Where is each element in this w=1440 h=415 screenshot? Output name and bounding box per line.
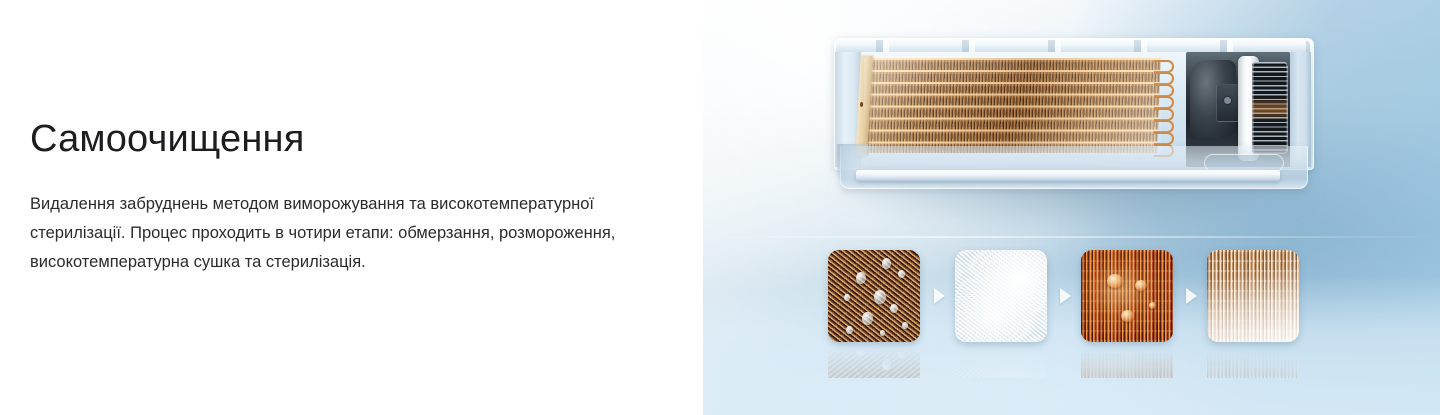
stage-tile [828, 250, 920, 342]
heat-exchanger-coil [864, 58, 1160, 153]
water-droplet [874, 290, 886, 304]
stage-tile [1207, 250, 1299, 342]
stage-high-temperature-defrost [1081, 250, 1173, 342]
water-droplet [882, 258, 891, 269]
melting-droplet [1149, 302, 1156, 309]
water-droplet [856, 344, 866, 356]
water-droplet [890, 304, 898, 313]
air-conditioner-unit [834, 38, 1312, 190]
melting-droplet [1107, 274, 1123, 288]
page-title: Самоочищення [30, 118, 630, 162]
text-panel: Самоочищення Видалення забруднень методо… [0, 0, 703, 415]
water-droplet [846, 326, 853, 334]
frost-grain [955, 344, 1047, 378]
stage-tile-reflection [1081, 344, 1173, 378]
stage-tile [1081, 250, 1173, 342]
stage-soiled-wet-fins [828, 250, 920, 342]
heat-glow [1081, 344, 1173, 378]
stage-tile-reflection [1207, 344, 1299, 378]
stage-tile-reflection [955, 344, 1047, 378]
stage-dry-sterilized-fins [1207, 250, 1299, 342]
product-illustration-panel [703, 0, 1440, 415]
stage-frost-ice-buildup [955, 250, 1047, 342]
background-floor-line [703, 236, 1440, 238]
coil-sheen [864, 58, 1160, 153]
water-droplet [882, 359, 891, 370]
water-droplet [898, 270, 905, 278]
coil-end-plate-hole [860, 102, 863, 107]
melting-droplet [1135, 280, 1147, 291]
water-droplet [880, 330, 885, 336]
stage-arrow-1 [934, 288, 945, 304]
melting-droplet [1121, 310, 1134, 322]
front-louver-blade [856, 170, 1280, 181]
stage-arrow-3 [1186, 288, 1197, 304]
stage-tile-reflection [828, 344, 920, 378]
self-clean-process-stages [703, 250, 1440, 360]
section-description: Видалення забруднень методом виморожуван… [30, 190, 622, 278]
water-droplet [856, 272, 866, 284]
frost-grain [955, 250, 1047, 342]
fin-texture-soiled [828, 344, 920, 378]
self-cleaning-feature-section: Самоочищення Видалення забруднень методо… [0, 0, 1440, 415]
text-block: Самоочищення Видалення забруднень методо… [30, 118, 630, 278]
stage-tile [955, 250, 1047, 342]
water-droplet [898, 350, 905, 358]
cross-flow-fan [1252, 62, 1288, 154]
dry-fade [1207, 250, 1299, 342]
motor-terminal-port [1224, 97, 1231, 104]
water-droplet [844, 294, 850, 301]
copper-return-bends [1154, 58, 1176, 154]
unit-top-clips [836, 40, 1310, 52]
stage-arrow-2 [1060, 288, 1071, 304]
heat-glow [1081, 250, 1173, 342]
water-droplet [902, 322, 908, 329]
motor-terminal-box [1216, 84, 1240, 122]
fan-housing-ring [1252, 62, 1288, 154]
water-droplet [862, 312, 873, 325]
dry-fade [1207, 344, 1299, 378]
